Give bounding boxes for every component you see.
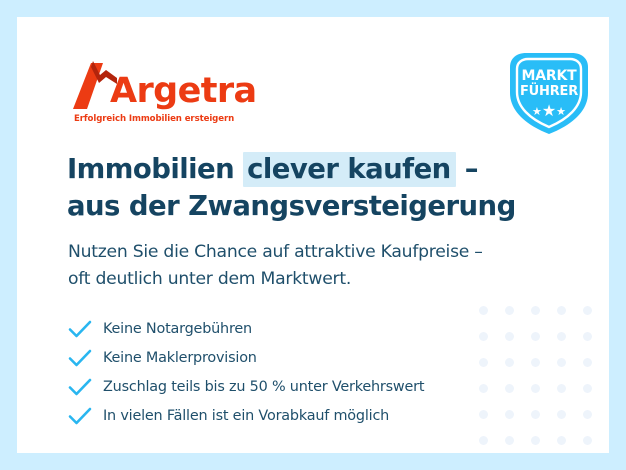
promo-banner: Argetra Erfolgreich Immobilien ersteiger… [0, 0, 626, 470]
promo-card: Argetra Erfolgreich Immobilien ersteiger… [17, 17, 609, 453]
dot [531, 436, 540, 445]
dot [479, 436, 488, 445]
list-item: Keine Maklerprovision [68, 343, 424, 372]
check-icon [68, 378, 93, 396]
subheadline-line-2: oft deutlich unter dem Marktwert. [68, 269, 351, 289]
logo-tagline: Erfolgreich Immobilien ersteigern [74, 114, 257, 124]
dot [557, 332, 566, 341]
headline-text-before: Immobilien [67, 153, 243, 185]
list-item-label: Zuschlag teils bis zu 50 % unter Verkehr… [103, 378, 424, 396]
headline-line-2: aus der Zwangsversteigerung [67, 190, 516, 222]
dot [583, 384, 592, 393]
dot [505, 358, 514, 367]
dot [583, 358, 592, 367]
dot [505, 332, 514, 341]
dot [583, 410, 592, 419]
dot [583, 306, 592, 315]
benefit-list: Keine Notargebühren Keine Maklerprovisio… [68, 314, 424, 430]
dot [479, 358, 488, 367]
dot [557, 358, 566, 367]
dot [479, 410, 488, 419]
dot [479, 306, 488, 315]
dot [557, 436, 566, 445]
dot [505, 384, 514, 393]
dot [583, 332, 592, 341]
dot [479, 384, 488, 393]
list-item-label: Keine Notargebühren [103, 320, 252, 338]
dot [557, 384, 566, 393]
check-icon [68, 349, 93, 367]
subheadline-line-1: Nutzen Sie die Chance auf attraktive Kau… [68, 242, 483, 262]
argetra-a-roof-icon [73, 59, 117, 111]
list-item-label: In vielen Fällen ist ein Vorabkauf mögli… [103, 407, 389, 425]
headline-line-1: Immobilien clever kaufen – [67, 152, 478, 187]
headline-highlight: clever kaufen [243, 152, 456, 187]
dot [557, 306, 566, 315]
shield-icon [506, 49, 592, 137]
dot [531, 410, 540, 419]
argetra-logo[interactable]: Argetra Erfolgreich Immobilien ersteiger… [73, 59, 257, 124]
list-item: Keine Notargebühren [68, 314, 424, 343]
dot [505, 410, 514, 419]
logo-wordmark: Argetra [110, 73, 257, 111]
dot [531, 332, 540, 341]
dot [583, 436, 592, 445]
market-leader-badge: MARKT FÜHRER ★ ★ ★ [506, 49, 592, 137]
check-icon [68, 320, 93, 338]
headline-text-after: – [456, 153, 478, 185]
check-icon [68, 407, 93, 425]
logo-row: Argetra [73, 59, 257, 111]
list-item: In vielen Fällen ist ein Vorabkauf mögli… [68, 401, 424, 430]
list-item-label: Keine Maklerprovision [103, 349, 257, 367]
subheadline: Nutzen Sie die Chance auf attraktive Kau… [68, 239, 483, 293]
dot [505, 436, 514, 445]
dot-grid-decoration [471, 298, 601, 453]
dot [531, 358, 540, 367]
dot [531, 306, 540, 315]
dot [479, 332, 488, 341]
list-item: Zuschlag teils bis zu 50 % unter Verkehr… [68, 372, 424, 401]
dot [557, 410, 566, 419]
headline: Immobilien clever kaufen – aus der Zwang… [67, 151, 516, 225]
dot [531, 384, 540, 393]
dot [505, 306, 514, 315]
